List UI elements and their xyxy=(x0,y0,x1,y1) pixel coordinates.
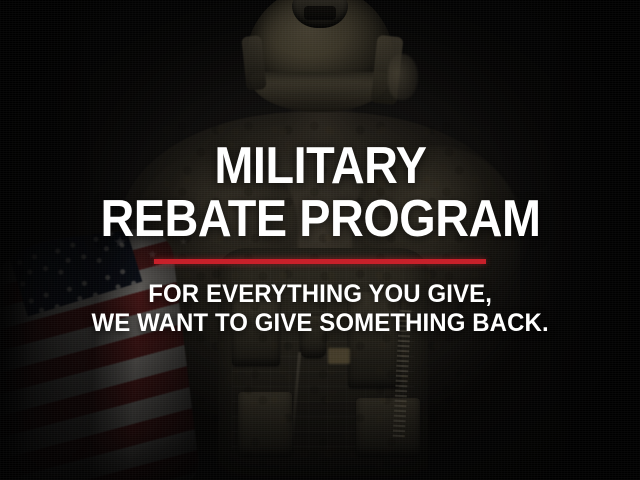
subheadline-line-2: WE WANT TO GIVE SOMETHING BACK. xyxy=(91,309,548,339)
red-divider xyxy=(154,259,486,264)
headline-line-2: REBATE PROGRAM xyxy=(100,194,540,245)
subheadline-line-1: FOR EVERYTHING YOU GIVE, xyxy=(91,280,548,310)
page-subtitle: FOR EVERYTHING YOU GIVE, WE WANT TO GIVE… xyxy=(91,280,548,339)
poster-text-overlay: MILITARY REBATE PROGRAM FOR EVERYTHING Y… xyxy=(0,0,640,480)
headline-line-1: MILITARY xyxy=(100,141,540,192)
page-title: MILITARY REBATE PROGRAM xyxy=(100,141,540,245)
military-rebate-program-poster: MILITARY REBATE PROGRAM FOR EVERYTHING Y… xyxy=(0,0,640,480)
